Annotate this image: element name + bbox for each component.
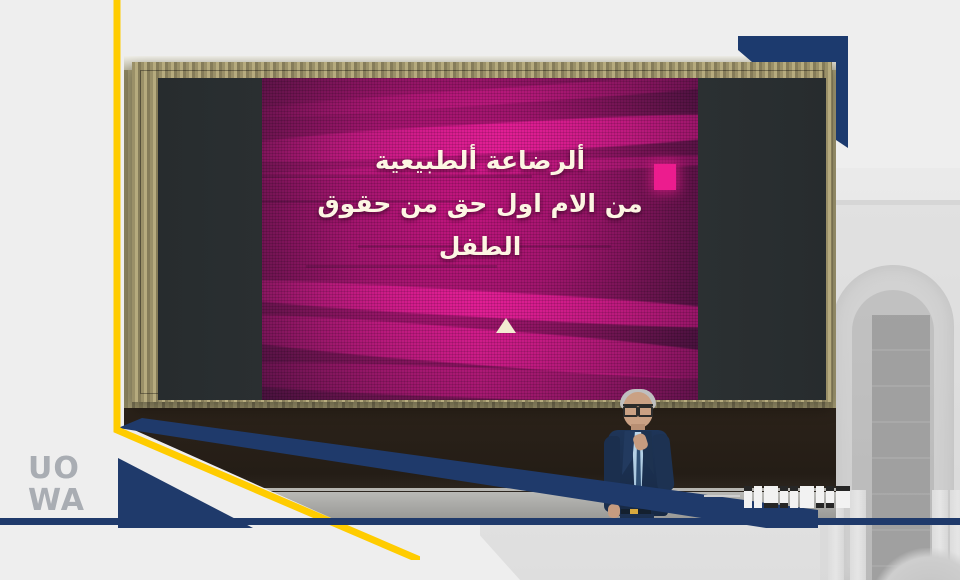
screen-wood-frame: ألرضاعة ألطبيعية من الام اول حق من حقوق … — [132, 62, 832, 402]
wordmark-glyph — [754, 486, 762, 508]
screen-dark-left-band — [158, 78, 262, 400]
building-arch-glazing — [872, 315, 930, 580]
presenter-glasses — [623, 404, 653, 411]
wordmark-glyph — [744, 486, 752, 508]
building-column — [850, 490, 866, 580]
kufic-wordmark-watermark: wasit-university-kufic-wordmark — [744, 486, 850, 508]
wordmark-glyph — [780, 486, 788, 508]
uowa-logo: UO WA — [28, 455, 85, 514]
watermark-leader-line — [704, 495, 740, 497]
slide-triangle-mark — [496, 318, 516, 333]
bottom-navy-rule — [0, 518, 960, 525]
navy-diagonal-band — [118, 418, 818, 528]
wordmark-glyph — [800, 486, 814, 508]
led-presentation-screen: ألرضاعة ألطبيعية من الام اول حق من حقوق … — [158, 78, 826, 400]
wordmark-glyph — [836, 486, 850, 508]
uowa-logo-line-1: UO — [28, 455, 85, 483]
slide-headline-line-3: الطفل — [262, 226, 698, 269]
building-shrub — [870, 548, 960, 580]
slide-headline-line-2: من الام اول حق من حقوق — [262, 183, 698, 226]
slide-headline: ألرضاعة ألطبيعية من الام اول حق من حقوق … — [262, 140, 698, 268]
wordmark-glyph — [816, 486, 824, 508]
slide-headline-line-1: ألرضاعة ألطبيعية — [262, 140, 698, 183]
wordmark-glyph — [764, 486, 778, 508]
poster-canvas: ألرضاعة ألطبيعية من الام اول حق من حقوق … — [0, 0, 960, 580]
wordmark-glyph — [790, 486, 798, 508]
wordmark-glyph — [826, 486, 834, 508]
navy-top-right-flag — [738, 36, 848, 154]
uowa-logo-line-2: WA — [28, 487, 85, 515]
